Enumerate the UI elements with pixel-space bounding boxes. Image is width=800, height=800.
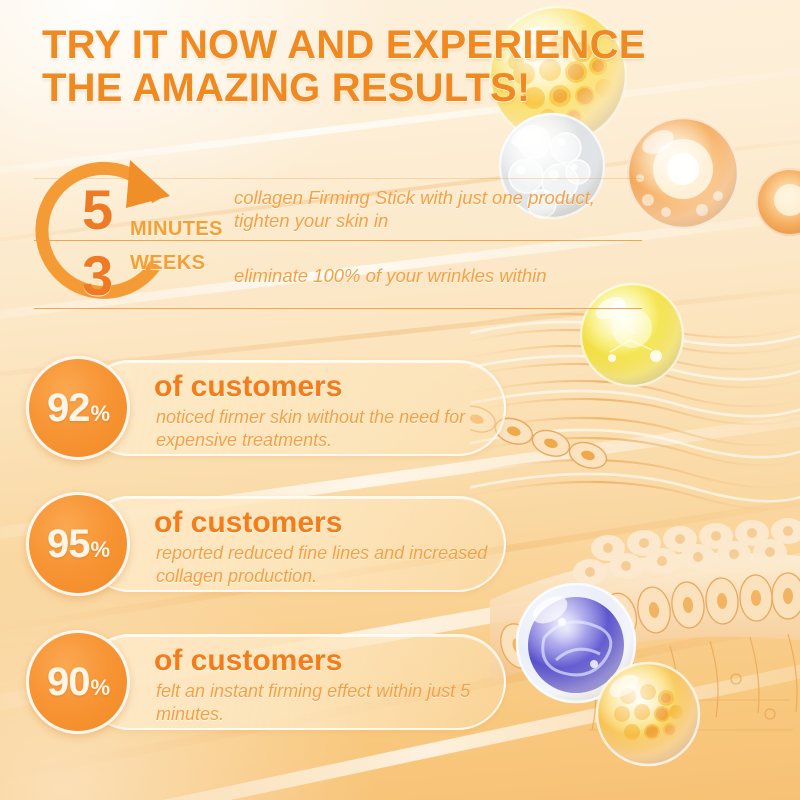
percent-sign-icon: % bbox=[90, 539, 109, 561]
basal-cell-palisade bbox=[490, 518, 800, 684]
timeframe-number-1: 5 bbox=[82, 182, 113, 238]
headline-line-2: THE AMAZING RESULTS! bbox=[42, 67, 742, 110]
timeframe-description-2: eliminate 100% of your wrinkles within bbox=[234, 264, 654, 287]
timeframe-block: 5 MINUTES 3 WEEKS collagen Firming Stick… bbox=[34, 152, 644, 312]
honeycomb-amber-sphere-bottom bbox=[596, 662, 700, 766]
timeframe-unit-2: WEEKS bbox=[130, 252, 205, 275]
stat-badge: 95% bbox=[26, 492, 130, 596]
percent-sign-icon: % bbox=[90, 677, 109, 699]
stat-subtitle: felt an instant firming effect within ju… bbox=[156, 680, 506, 725]
stat-row: 92% of customers noticed firmer skin wit… bbox=[26, 356, 506, 460]
headline-line-1: TRY IT NOW AND EXPERIENCE bbox=[42, 24, 742, 67]
stat-badge: 92% bbox=[26, 356, 130, 460]
timeframe-description-1: collagen Firming Stick with just one pro… bbox=[234, 186, 634, 233]
stat-badge: 90% bbox=[26, 630, 130, 734]
poster-canvas: TRY IT NOW AND EXPERIENCE THE AMAZING RE… bbox=[0, 0, 800, 800]
amber-partial-sphere-edge bbox=[756, 168, 800, 236]
stat-subtitle: reported reduced fine lines and increase… bbox=[156, 542, 506, 587]
timeframe-number-2: 3 bbox=[82, 248, 113, 304]
skin-science-artwork bbox=[470, 0, 800, 800]
stat-percent: 92% bbox=[47, 388, 109, 428]
stat-row: 90% of customers felt an instant firming… bbox=[26, 630, 506, 734]
stat-percent: 95% bbox=[47, 524, 109, 564]
stat-title: of customers bbox=[154, 370, 342, 404]
dermis-fiber-layer bbox=[470, 314, 800, 509]
page-title: TRY IT NOW AND EXPERIENCE THE AMAZING RE… bbox=[42, 24, 742, 110]
stat-percent: 90% bbox=[47, 662, 109, 702]
stat-percent-value: 95 bbox=[47, 524, 90, 564]
stat-title: of customers bbox=[154, 644, 342, 678]
stat-percent-value: 90 bbox=[47, 662, 90, 702]
timeframe-unit-1: MINUTES bbox=[130, 218, 223, 241]
divider-bottom bbox=[34, 308, 642, 309]
collagen-scaffold bbox=[580, 634, 797, 730]
percent-sign-icon: % bbox=[90, 403, 109, 425]
stat-title: of customers bbox=[154, 506, 342, 540]
stat-subtitle: noticed firmer skin without the need for… bbox=[156, 406, 506, 451]
stat-row: 95% of customers reported reduced fine l… bbox=[26, 492, 506, 596]
blue-swirl-sphere bbox=[516, 583, 636, 703]
stat-percent-value: 92 bbox=[47, 388, 90, 428]
